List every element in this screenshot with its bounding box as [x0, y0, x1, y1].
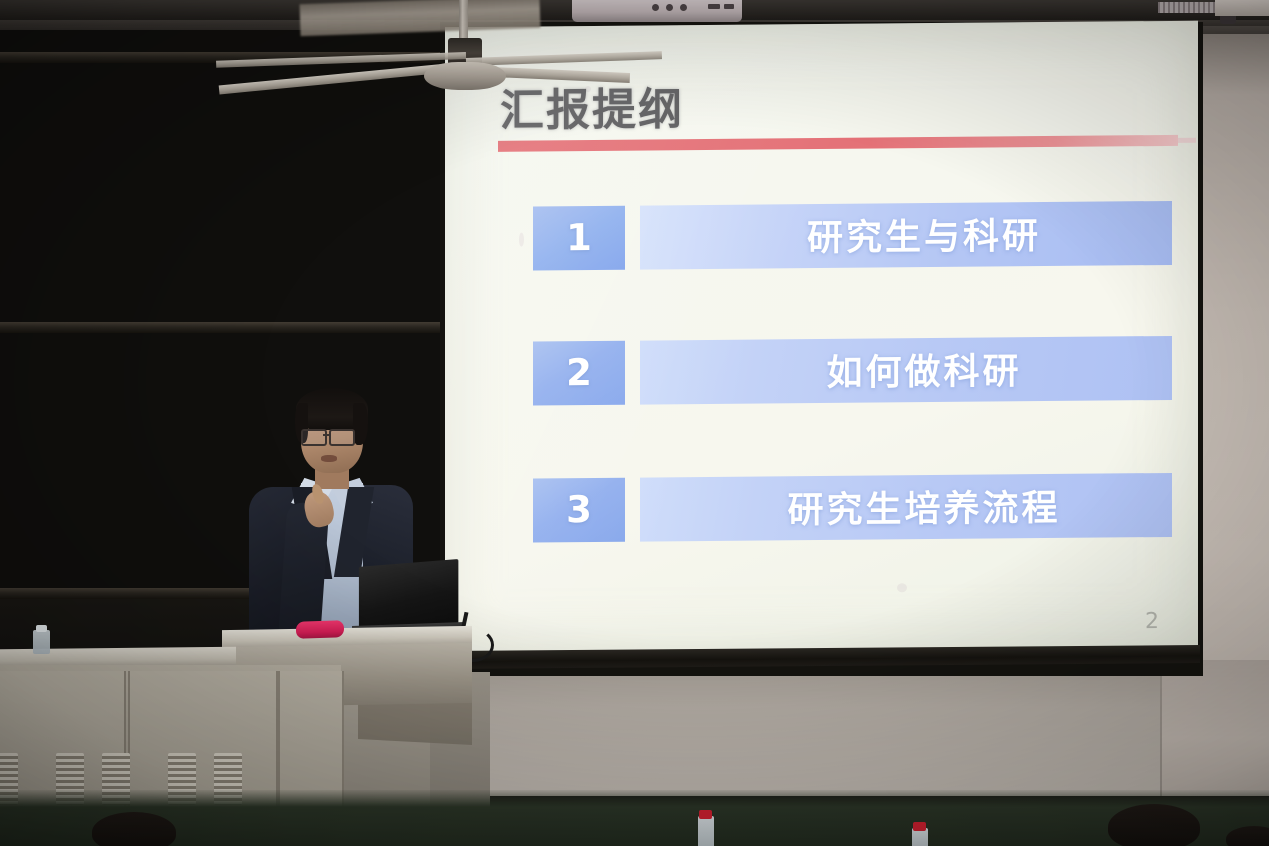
pink-pouch: [296, 620, 344, 639]
slide-page-number: 2: [1145, 609, 1159, 634]
outline-label-bar: 研究生培养流程: [640, 473, 1172, 542]
outline-number-box: 2: [533, 341, 625, 406]
projection-screen: 汇报提纲 1 研究生与科研 2 如何做科研: [445, 21, 1198, 656]
audience-head: [92, 812, 176, 846]
wall-corner-seam: [1160, 660, 1162, 796]
outline-label: 研究生培养流程: [787, 479, 1060, 533]
outline-number: 1: [566, 216, 592, 259]
water-bottle: [33, 630, 50, 654]
audience-head: [1108, 804, 1200, 846]
lecture-hall-photo: 汇报提纲 1 研究生与科研 2 如何做科研: [0, 0, 1269, 846]
water-bottle-cap: [36, 625, 47, 632]
presenter-hair-side: [353, 403, 368, 445]
screen-smudge: [519, 233, 524, 247]
glasses-lens-left: [301, 429, 327, 446]
outline-label-bar: 如何做科研: [640, 336, 1172, 405]
title-underline-tail: [1178, 138, 1196, 143]
ceiling-light-fixture: [1215, 0, 1269, 16]
glasses-lens-right: [329, 429, 355, 446]
glasses-bridge: [323, 434, 329, 436]
fan-hub: [424, 62, 506, 90]
outline-number: 3: [566, 488, 592, 531]
audience-bottle: [698, 816, 714, 846]
audience-bottle-cap: [699, 810, 712, 819]
outline-number-box: 3: [533, 478, 625, 543]
projector-vent: [1158, 2, 1220, 13]
right-wall-lower: [1160, 660, 1269, 790]
outline-label: 如何做科研: [826, 342, 1021, 396]
ceiling-projector: [572, 0, 742, 22]
projector-port: [666, 4, 673, 11]
page-title: 汇报提纲: [500, 73, 684, 139]
blackboard-rail-middle: [0, 322, 450, 333]
presenter-mouth: [321, 455, 337, 462]
slide-canvas: 汇报提纲 1 研究生与科研 2 如何做科研: [445, 21, 1198, 656]
outline-label: 研究生与科研: [807, 207, 1041, 261]
outline-label-bar: 研究生与科研: [640, 201, 1172, 270]
projector-port: [724, 4, 734, 9]
audience-bottle-cap: [913, 822, 926, 831]
projector-port: [680, 4, 687, 11]
wall-dado: [0, 790, 1269, 846]
screen-smudge: [897, 583, 907, 592]
outline-number: 2: [566, 351, 592, 394]
outline-number-box: 1: [533, 206, 625, 271]
back-wall: [480, 660, 1269, 796]
projector-port: [652, 4, 659, 11]
projector-port: [708, 4, 720, 9]
